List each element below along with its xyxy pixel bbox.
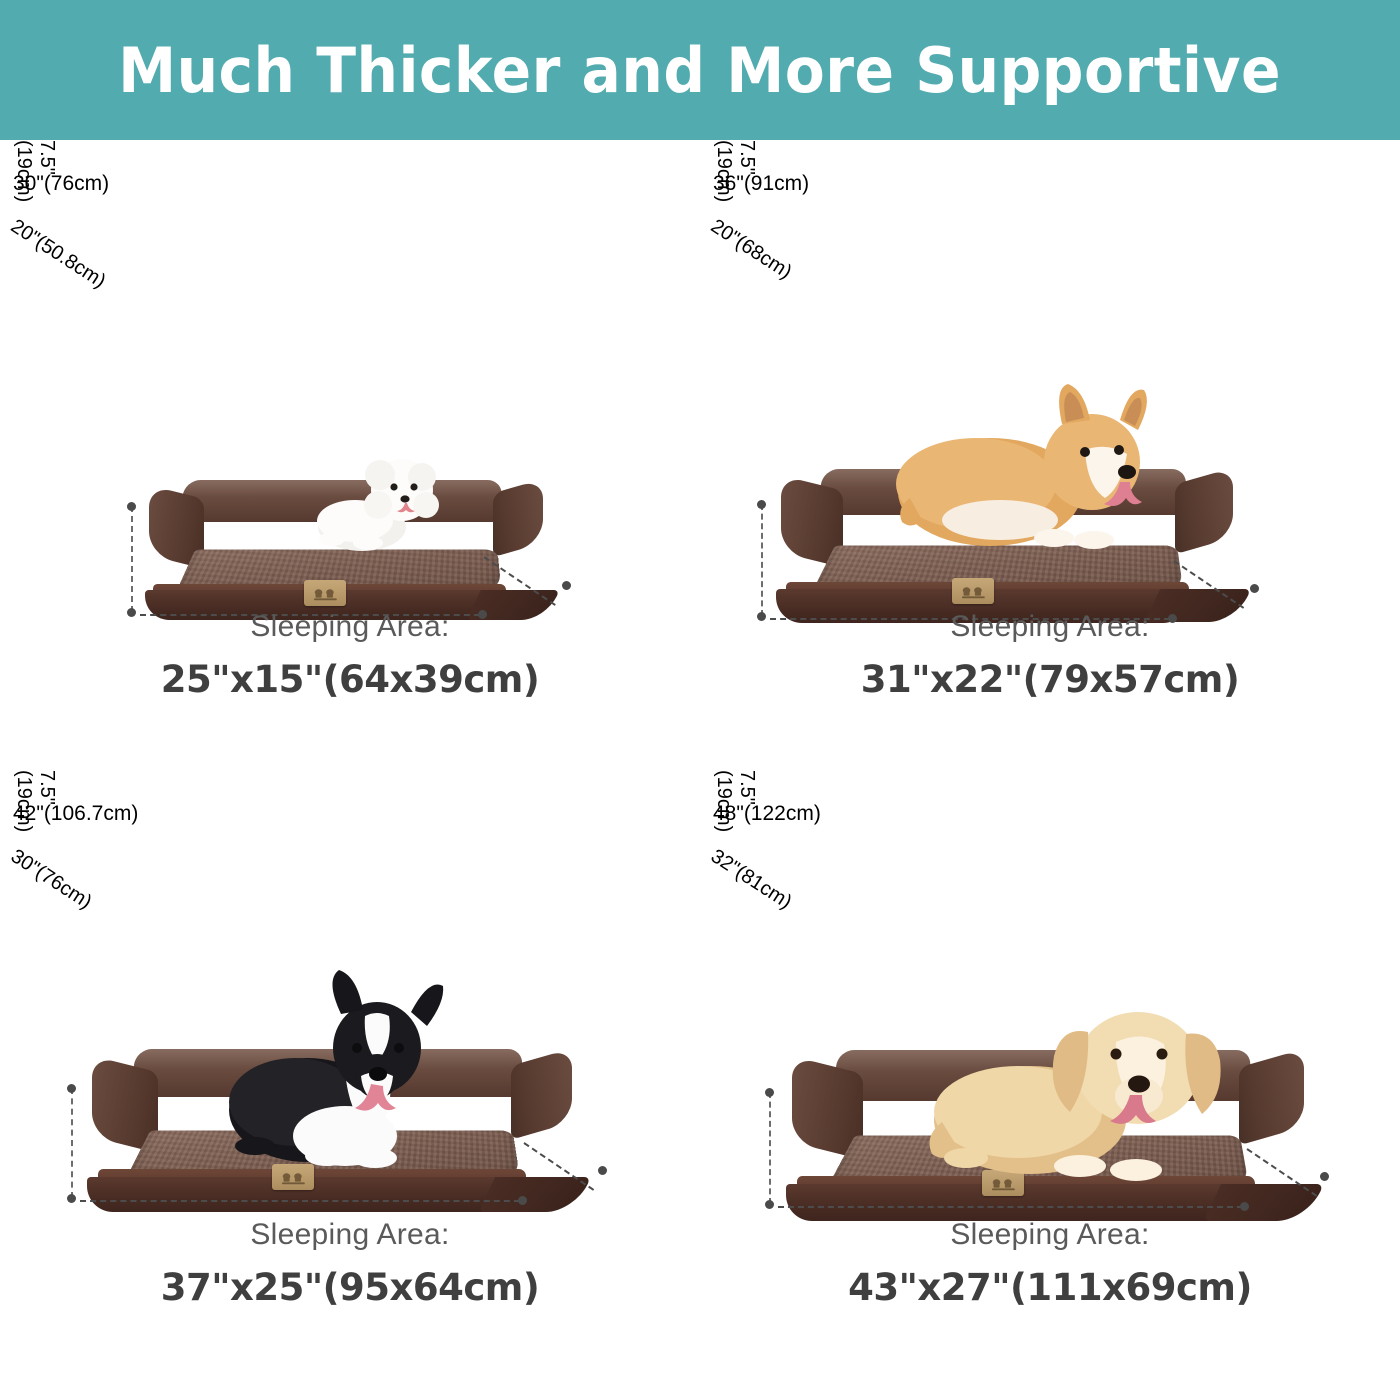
caption-medium: Sleeping Area: 31"x22"(79x57cm): [700, 610, 1400, 701]
sleeping-area-label: Sleeping Area:: [0, 610, 700, 644]
sleeping-area-value: 25"x15"(64x39cm): [0, 658, 700, 701]
dim-height-badge-large: 7.5"(19cm): [0, 770, 70, 802]
page-title: Much Thicker and More Supportive: [119, 34, 1282, 107]
caption-xlarge: Sleeping Area: 43"x27"(111x69cm): [700, 1218, 1400, 1309]
bed-card-small: 7.5"(19cm): [0, 140, 700, 770]
bed-stage-xlarge: 7.5"(19cm): [700, 770, 1400, 1240]
bed-stage-large: 7.5"(19cm): [0, 770, 700, 1240]
sleeping-area-label: Sleeping Area:: [700, 1218, 1400, 1252]
bed-card-xlarge: 7.5"(19cm): [700, 770, 1400, 1400]
dog-corgi: [880, 380, 1180, 570]
header-banner: Much Thicker and More Supportive: [0, 0, 1400, 140]
sleeping-area-label: Sleeping Area:: [0, 1218, 700, 1252]
bed-card-medium: 7.5"(19cm): [700, 140, 1400, 770]
bed-stage-medium: 7.5"(19cm): [700, 140, 1400, 610]
brand-tag-icon: [304, 580, 346, 606]
dim-width-line-large: [80, 1200, 520, 1202]
dim-height-badge-xlarge: 7.5"(19cm): [700, 770, 770, 802]
dim-width-badge-medium: 36"(91cm): [700, 172, 1400, 206]
dim-width-badge-small: 30"(76cm): [0, 172, 700, 206]
dim-height-badge-medium: 7.5"(19cm): [700, 140, 770, 172]
sleeping-area-value: 31"x22"(79x57cm): [700, 658, 1400, 701]
sleeping-area-value: 37"x25"(95x64cm): [0, 1266, 700, 1309]
sleeping-area-value: 43"x27"(111x69cm): [700, 1266, 1400, 1309]
caption-large: Sleeping Area: 37"x25"(95x64cm): [0, 1218, 700, 1309]
dim-width-line-xlarge: [778, 1206, 1243, 1208]
bed-size-grid: 7.5"(19cm): [0, 140, 1400, 1400]
dim-dot: [1320, 1172, 1329, 1181]
caption-small: Sleeping Area: 25"x15"(64x39cm): [0, 610, 700, 701]
dim-height-badge-small: 7.5"(19cm): [0, 140, 70, 172]
brand-tag-icon: [952, 578, 994, 604]
dim-width-badge-large: 42"(106.7cm): [0, 802, 700, 836]
bed-card-large: 7.5"(19cm): [0, 770, 700, 1400]
dim-dot: [598, 1166, 607, 1175]
sleeping-area-label: Sleeping Area:: [700, 610, 1400, 644]
bed-stage-small: 7.5"(19cm): [0, 140, 700, 610]
dim-width-badge-xlarge: 48"(122cm): [700, 802, 1400, 836]
